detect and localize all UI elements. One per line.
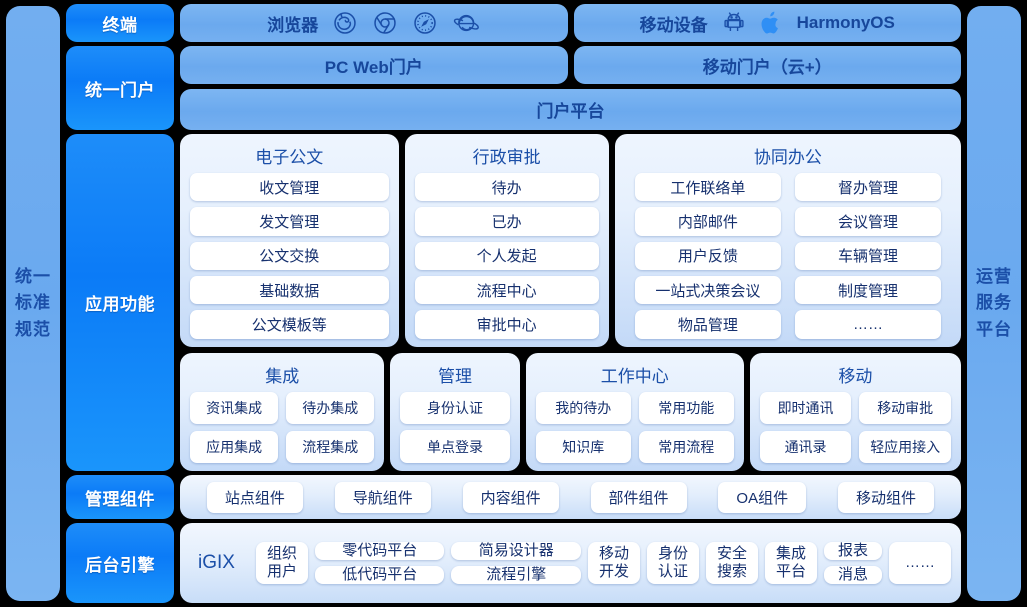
architecture-diagram: 统一 标准 规范 运营 服务 平台 终端 浏览器 — [0, 0, 1027, 607]
mgmt-component-item[interactable]: 移动组件 — [838, 482, 934, 513]
row-label-app-functions: 应用功能 — [66, 134, 174, 471]
row-unified-portal: 统一门户 PC Web门户 移动门户（云+） 门户平台 — [66, 46, 961, 130]
ie-icon — [452, 10, 480, 36]
engine-block-code-platforms: 零代码平台 低代码平台 — [315, 542, 444, 584]
pill-item[interactable]: 即时通讯 — [760, 392, 852, 424]
pill-item[interactable]: 督办管理 — [795, 173, 941, 201]
left-rail-unified-standard: 统一 标准 规范 — [6, 6, 60, 601]
left-rail-label: 统一 标准 规范 — [15, 264, 51, 343]
pill-item[interactable]: 发文管理 — [190, 207, 389, 235]
engine-item-process-engine[interactable]: 流程引擎 — [451, 566, 580, 584]
pc-web-portal: PC Web门户 — [180, 46, 568, 84]
pill-item[interactable]: 身份认证 — [400, 392, 509, 425]
backend-engine-panel: iGIX 组织 用户 零代码平台 低代码平台 简易设计器 流程引擎 移动 开发 … — [180, 523, 961, 603]
mgmt-component-item[interactable]: 部件组件 — [591, 482, 687, 513]
engine-block-identity-auth[interactable]: 身份 认证 — [647, 542, 699, 584]
card-title: 协同办公 — [625, 140, 951, 173]
engine-block-designers: 简易设计器 流程引擎 — [451, 542, 580, 584]
card-mobile: 移动 即时通讯 移动审批 通讯录 轻应用接入 — [750, 353, 961, 471]
engine-item-report[interactable]: 报表 — [824, 542, 882, 560]
firefox-icon — [332, 10, 358, 36]
diagram-body: 终端 浏览器 — [66, 4, 961, 603]
pill-item[interactable]: 已办 — [415, 207, 599, 235]
engine-block-report-message: 报表 消息 — [824, 542, 882, 584]
card-management: 管理 身份认证 单点登录 — [390, 353, 519, 471]
pill-item[interactable]: 物品管理 — [635, 310, 781, 338]
row-label-mgmt-components: 管理组件 — [66, 475, 174, 519]
engine-block-org-user[interactable]: 组织 用户 — [256, 542, 308, 584]
row-label-backend-engine: 后台引擎 — [66, 523, 174, 603]
terminal-browser-bar: 浏览器 — [180, 4, 568, 42]
row-terminal: 终端 浏览器 — [66, 4, 961, 42]
card-collaborative-office: 协同办公 工作联络单 内部邮件 用户反馈 一站式决策会议 物品管理 督办管理 — [615, 134, 961, 347]
pill-item[interactable]: 基础数据 — [190, 276, 389, 304]
pill-item[interactable]: 公文模板等 — [190, 310, 389, 338]
pill-item[interactable]: 单点登录 — [400, 430, 509, 463]
pill-item[interactable]: 车辆管理 — [795, 242, 941, 270]
chrome-icon — [372, 10, 398, 36]
pill-item[interactable]: 一站式决策会议 — [635, 276, 781, 304]
row-backend-engine: 后台引擎 iGIX 组织 用户 零代码平台 低代码平台 简易设计器 流程引擎 移… — [66, 523, 961, 603]
android-icon — [722, 10, 746, 36]
mgmt-component-item[interactable]: 内容组件 — [463, 482, 559, 513]
engine-item-zero-code[interactable]: 零代码平台 — [315, 542, 444, 560]
mgmt-component-item[interactable]: 导航组件 — [335, 482, 431, 513]
pill-item[interactable]: 我的待办 — [536, 392, 631, 424]
pill-item[interactable]: 制度管理 — [795, 276, 941, 304]
mobile-portal: 移动门户（云+） — [574, 46, 962, 84]
apple-icon — [760, 10, 783, 36]
pill-item[interactable]: 个人发起 — [415, 242, 599, 270]
row-app-functions: 应用功能 电子公文 收文管理 发文管理 公文交换 基础数据 公文模板等 — [66, 134, 961, 471]
right-rail-label: 运营 服务 平台 — [976, 264, 1012, 343]
pill-item[interactable]: …… — [795, 310, 941, 338]
pill-item[interactable]: 工作联络单 — [635, 173, 781, 201]
pill-item[interactable]: 应用集成 — [190, 431, 278, 463]
app-cards-bottom: 集成 资讯集成 待办集成 应用集成 流程集成 管理 — [180, 353, 961, 471]
pill-item[interactable]: 通讯录 — [760, 431, 852, 463]
browser-label: 浏览器 — [267, 11, 318, 36]
engine-block-mobile-dev[interactable]: 移动 开发 — [588, 542, 640, 584]
pill-item[interactable]: 知识库 — [536, 431, 631, 463]
pill-item[interactable]: 收文管理 — [190, 173, 389, 201]
harmonyos-label: HarmonyOS — [797, 13, 895, 33]
row-label-terminal: 终端 — [66, 4, 174, 42]
terminal-mobile-bar: 移动设备 — [574, 4, 962, 42]
engine-block-ellipsis[interactable]: …… — [889, 542, 951, 584]
pill-item[interactable]: 公文交换 — [190, 242, 389, 270]
pill-item[interactable]: 常用流程 — [639, 431, 734, 463]
mgmt-component-item[interactable]: OA组件 — [718, 482, 806, 513]
engine-block-integration-platform[interactable]: 集成 平台 — [765, 542, 817, 584]
card-title: 行政审批 — [415, 140, 599, 173]
card-integration: 集成 资讯集成 待办集成 应用集成 流程集成 — [180, 353, 384, 471]
safari-icon — [412, 10, 438, 36]
engine-block-secure-search[interactable]: 安全 搜索 — [706, 542, 758, 584]
card-title: 工作中心 — [536, 359, 734, 392]
pill-item[interactable]: 资讯集成 — [190, 392, 278, 424]
pill-item[interactable]: 流程集成 — [286, 431, 374, 463]
card-work-center: 工作中心 我的待办 常用功能 知识库 常用流程 — [526, 353, 744, 471]
mgmt-component-item[interactable]: 站点组件 — [207, 482, 303, 513]
engine-item-low-code[interactable]: 低代码平台 — [315, 566, 444, 584]
pill-item[interactable]: 会议管理 — [795, 207, 941, 235]
mobile-device-label: 移动设备 — [640, 11, 708, 36]
pill-item[interactable]: 流程中心 — [415, 276, 599, 304]
engine-item-message[interactable]: 消息 — [824, 566, 882, 584]
pill-item[interactable]: 轻应用接入 — [859, 431, 951, 463]
pill-item[interactable]: 待办 — [415, 173, 599, 201]
app-cards-top: 电子公文 收文管理 发文管理 公文交换 基础数据 公文模板等 — [180, 134, 961, 347]
pill-item[interactable]: 待办集成 — [286, 392, 374, 424]
engine-item-simple-designer[interactable]: 简易设计器 — [451, 542, 580, 560]
pill-item[interactable]: 移动审批 — [859, 392, 951, 424]
card-title: 电子公文 — [190, 140, 389, 173]
igix-brand-label: iGIX — [190, 542, 249, 584]
right-rail-operation-service: 运营 服务 平台 — [967, 6, 1021, 601]
pill-item[interactable]: 内部邮件 — [635, 207, 781, 235]
pill-item[interactable]: 审批中心 — [415, 310, 599, 338]
row-mgmt-components: 管理组件 站点组件 导航组件 内容组件 部件组件 OA组件 移动组件 — [66, 475, 961, 519]
row-label-unified-portal: 统一门户 — [66, 46, 174, 130]
card-electronic-document: 电子公文 收文管理 发文管理 公文交换 基础数据 公文模板等 — [180, 134, 399, 347]
mgmt-components-panel: 站点组件 导航组件 内容组件 部件组件 OA组件 移动组件 — [180, 475, 961, 519]
card-title: 移动 — [760, 359, 951, 392]
card-administrative-approval: 行政审批 待办 已办 个人发起 流程中心 审批中心 — [405, 134, 609, 347]
pill-item[interactable]: 常用功能 — [639, 392, 734, 424]
portal-platform: 门户平台 — [180, 89, 961, 130]
pill-item[interactable]: 用户反馈 — [635, 242, 781, 270]
card-title: 管理 — [400, 359, 509, 392]
card-title: 集成 — [190, 359, 374, 392]
